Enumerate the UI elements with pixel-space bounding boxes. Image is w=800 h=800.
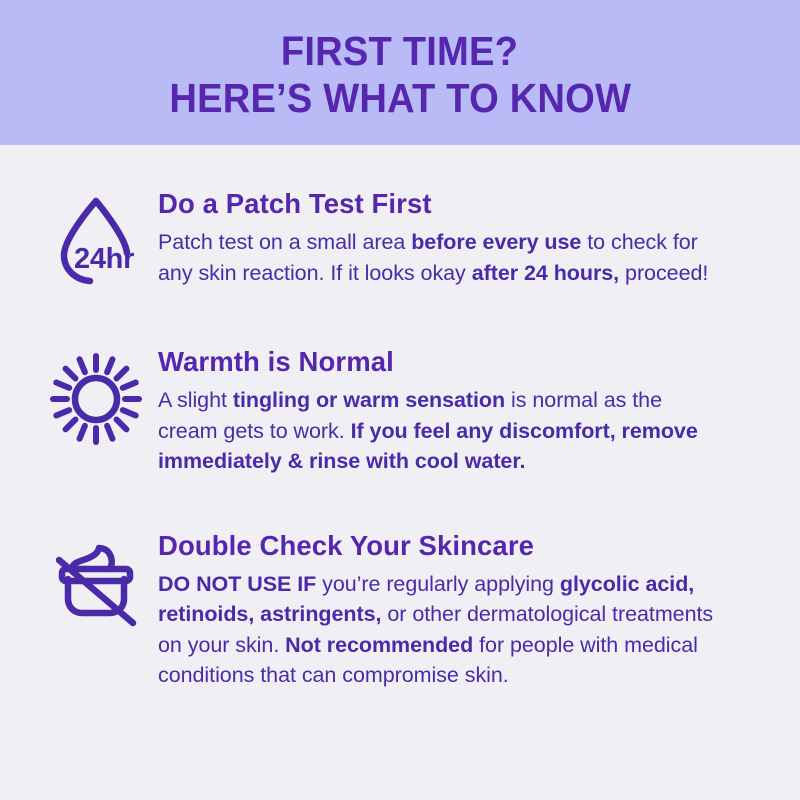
section-warmth: Warmth is Normal A slight tingling or wa… (0, 345, 800, 477)
sun-ray (107, 426, 112, 439)
section-skincare: Double Check Your Skincare DO NOT USE IF… (0, 529, 800, 691)
no-cream-jar-icon (46, 533, 146, 633)
body-text: Patch test on a small area (158, 230, 411, 254)
section-title-skincare: Double Check Your Skincare (158, 529, 726, 562)
header-title-line-1: FIRST TIME? (281, 28, 518, 75)
body-text: you’re regularly applying (316, 572, 560, 596)
sun-ray (56, 410, 69, 415)
sun-icon (46, 349, 146, 449)
sun-ray (107, 359, 112, 372)
sun-ray (117, 420, 127, 430)
infographic-page: FIRST TIME? HERE’S WHAT TO KNOW 24hr Do … (0, 0, 800, 800)
sun-ray (117, 369, 127, 379)
sun-ray (56, 383, 69, 388)
sun-ray (80, 359, 85, 372)
sections-container: 24hr Do a Patch Test First Patch test on… (0, 145, 800, 691)
section-body: Warmth is Normal A slight tingling or wa… (154, 345, 726, 477)
section-title-warmth: Warmth is Normal (158, 345, 726, 378)
section-text-patch-test: Patch test on a small area before every … (158, 227, 726, 288)
sun-ray (123, 383, 136, 388)
section-icon-slot (46, 529, 154, 633)
section-body: Double Check Your Skincare DO NOT USE IF… (154, 529, 726, 691)
emphasis-text: tingling or warm sensation (233, 388, 505, 412)
section-patch-test: 24hr Do a Patch Test First Patch test on… (0, 187, 800, 291)
section-title-patch-test: Do a Patch Test First (158, 187, 726, 220)
sun-ray (66, 420, 76, 430)
body-text: proceed! (619, 261, 708, 285)
emphasis-text: DO NOT USE IF (158, 572, 316, 596)
sun-ray (80, 426, 85, 439)
section-body: Do a Patch Test First Patch test on a sm… (154, 187, 726, 288)
emphasis-text: before every use (411, 230, 581, 254)
sun-ray (66, 369, 76, 379)
header-banner: FIRST TIME? HERE’S WHAT TO KNOW (0, 0, 800, 145)
droplet-24hr-label: 24hr (74, 245, 134, 274)
section-text-warmth: A slight tingling or warm sensation is n… (158, 385, 726, 477)
emphasis-text: after 24 hours, (472, 261, 619, 285)
section-icon-slot: 24hr (46, 187, 154, 291)
section-text-skincare: DO NOT USE IF you’re regularly applying … (158, 569, 726, 691)
body-text: A slight (158, 388, 233, 412)
sun-ray (123, 410, 136, 415)
section-icon-slot (46, 345, 154, 449)
emphasis-text: Not recommended (285, 633, 473, 657)
water-droplet-24hr-icon: 24hr (46, 191, 146, 291)
header-title-line-2: HERE’S WHAT TO KNOW (169, 75, 631, 122)
water-droplet-icon-svg (46, 191, 146, 291)
